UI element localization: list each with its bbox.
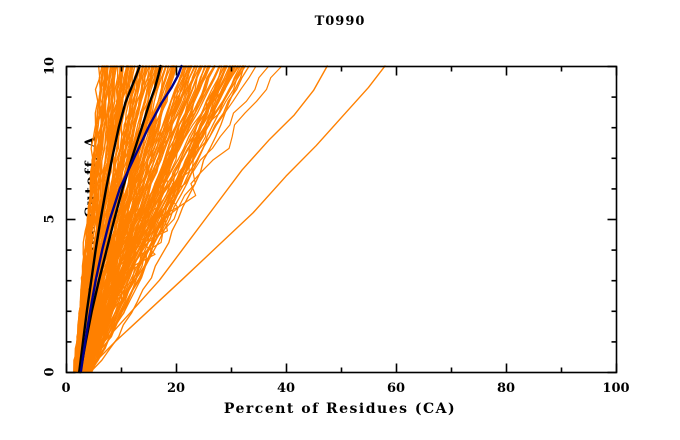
plot-svg bbox=[0, 0, 680, 440]
plot-canvas bbox=[0, 0, 680, 440]
series-layer bbox=[74, 66, 385, 372]
chart-root: T0990 Distance Cutoff, A Percent of Resi… bbox=[0, 0, 680, 440]
